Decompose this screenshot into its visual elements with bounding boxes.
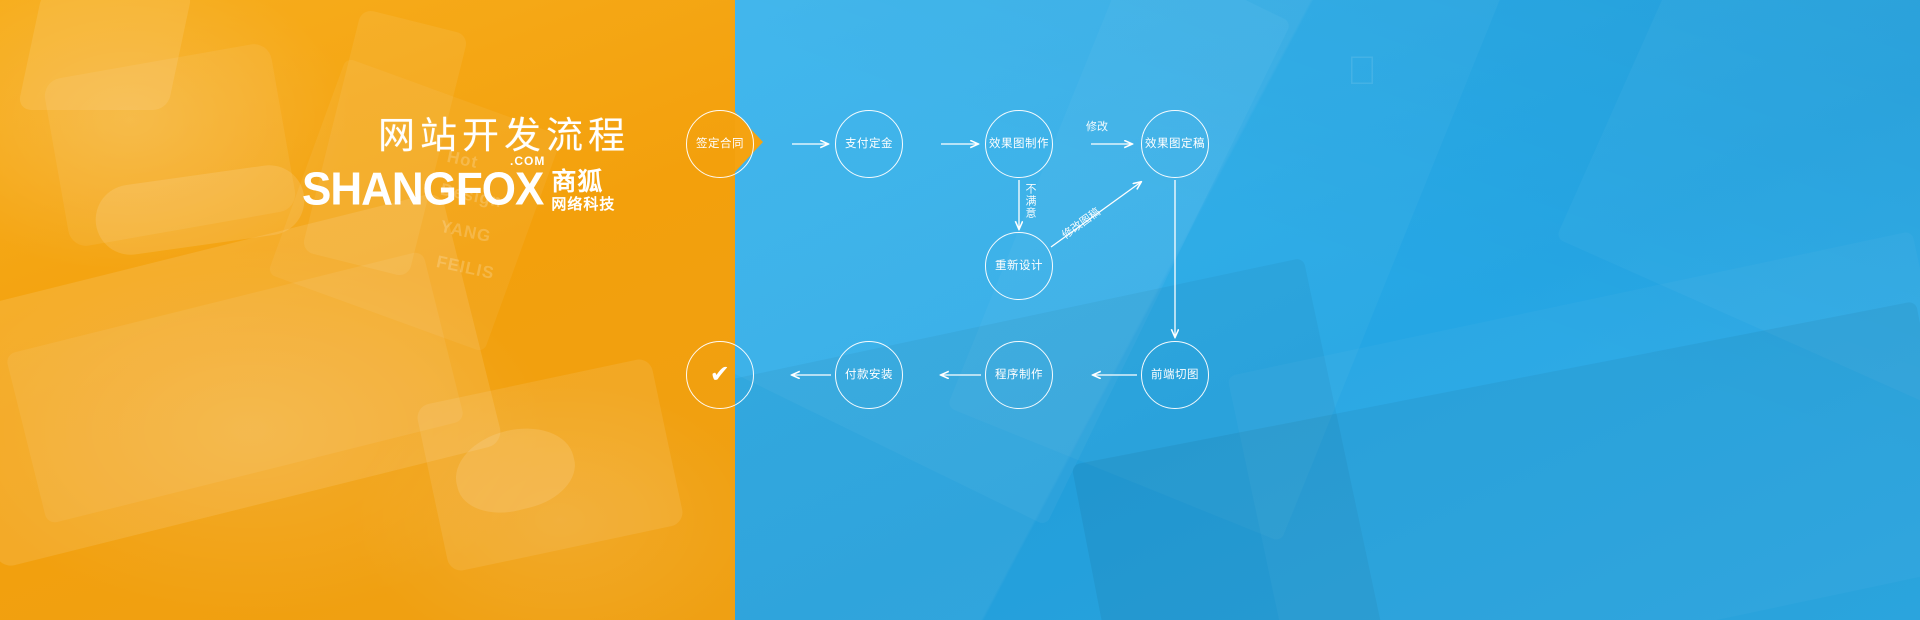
flow-node-mockup-finalized[interactable]: 效果图定稿: [1141, 110, 1209, 178]
flow-node-complete-checkmark[interactable]: ✔: [686, 341, 754, 409]
checkmark-icon: ✔: [710, 363, 731, 387]
flow-node-label: 签定合同: [696, 138, 744, 151]
banner-root: Hot Design YANG FEILIS 网站开发流程 SHANGFOX .…: [0, 0, 1920, 620]
flow-node-label: 前端切图: [1151, 369, 1199, 382]
flow-node-label: 付款安装: [845, 369, 893, 382]
flow-node-pay-deposit[interactable]: 支付定金: [835, 110, 903, 178]
flow-node-label: 效果图制作: [989, 138, 1049, 151]
flowchart: 签定合同 支付定金 效果图制作 效果图定稿 重新设计 前端切图 程序制作 付款安…: [0, 0, 1920, 620]
flow-node-sign-contract[interactable]: 签定合同: [686, 110, 754, 178]
edge-label-revise: 修改: [1086, 118, 1108, 134]
flow-node-redesign[interactable]: 重新设计: [985, 232, 1053, 300]
flow-node-label: 支付定金: [845, 138, 893, 151]
flow-node-label: 重新设计: [995, 260, 1043, 273]
flow-node-label: 程序制作: [995, 369, 1043, 382]
flow-node-frontend-slicing[interactable]: 前端切图: [1141, 341, 1209, 409]
flowchart-edges: [0, 0, 1920, 620]
edge-label-unsatisfied: 不满意: [1022, 183, 1038, 219]
flow-node-program-development[interactable]: 程序制作: [985, 341, 1053, 409]
flow-node-label: 效果图定稿: [1145, 138, 1205, 151]
flow-node-payment-install[interactable]: 付款安装: [835, 341, 903, 409]
flow-node-mockup-creation[interactable]: 效果图制作: [985, 110, 1053, 178]
edge-label-revise-draft: 修改图稿: [1058, 204, 1103, 243]
